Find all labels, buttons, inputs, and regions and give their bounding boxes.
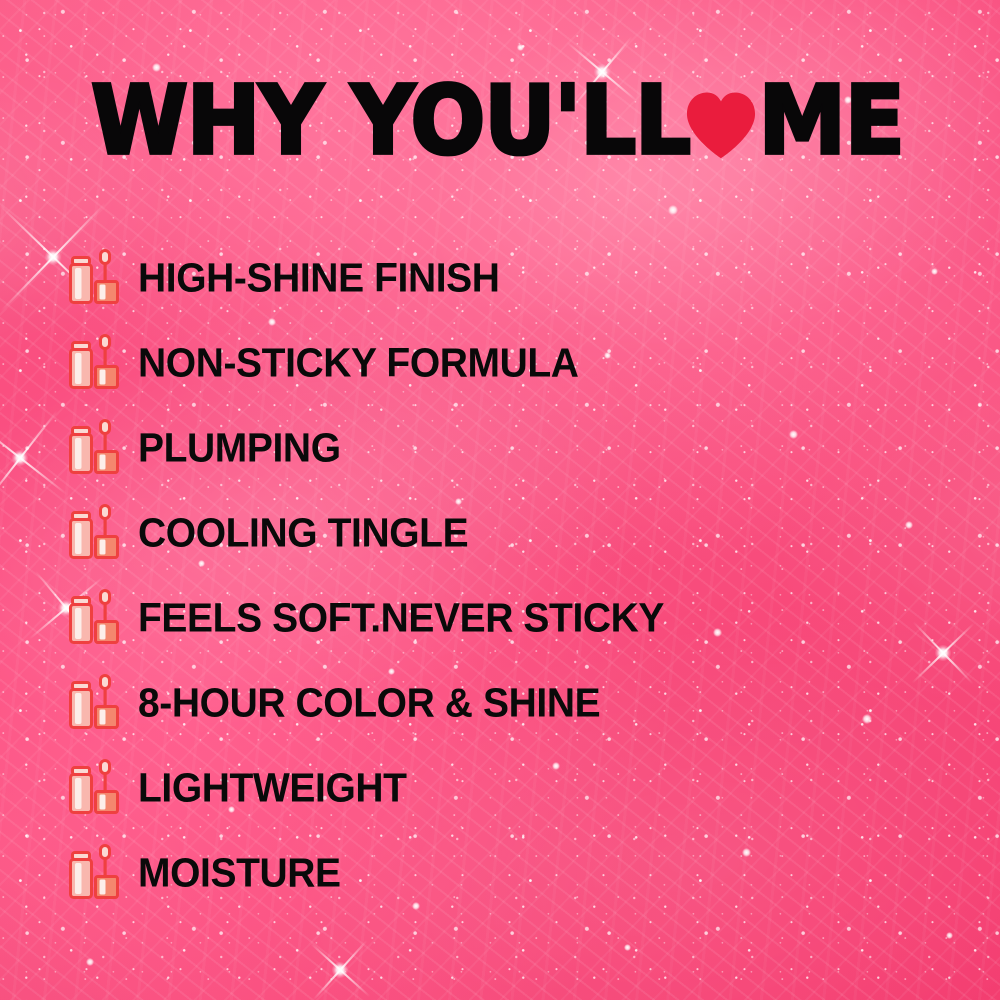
list-item: PLUMPING [66,406,664,491]
list-item: HIGH-SHINE FINISH [66,236,664,321]
list-item: COOLING TINGLE [66,491,664,576]
lip-gloss-tube-and-wand-icon [66,248,122,310]
list-item-label: HIGH-SHINE FINISH [138,258,500,299]
lip-gloss-tube-and-wand-icon [66,843,122,905]
lip-gloss-tube-and-wand-icon [66,673,122,735]
lip-gloss-tube-and-wand-icon [66,418,122,480]
lip-gloss-tube-and-wand-icon [66,588,122,650]
lip-gloss-tube-and-wand-icon [66,333,122,395]
list-item: 8-HOUR COLOR & SHINE [66,661,664,746]
list-item-label: COOLING TINGLE [138,513,468,554]
list-item-label: MOISTURE [138,853,341,894]
list-item-label: PLUMPING [138,428,341,469]
list-item: MOISTURE [66,831,664,916]
page-title-part2: ME [759,74,904,169]
list-item-label: NON-STICKY FORMULA [138,343,579,384]
list-item: FEELS SOFT.NEVER STICKY [66,576,664,661]
heart-icon [684,90,758,160]
list-item: NON-STICKY FORMULA [66,321,664,406]
lip-gloss-tube-and-wand-icon [66,758,122,820]
promo-graphic: WHY YOU'LL ME [0,0,1000,1000]
list-item: LIGHTWEIGHT [66,746,664,831]
page-title-part1: WHY YOU'LL [91,74,690,169]
list-item-label: 8-HOUR COLOR & SHINE [138,683,600,724]
page-title: WHY YOU'LL ME [0,78,1000,164]
lip-gloss-tube-and-wand-icon [66,503,122,565]
benefits-list: HIGH-SHINE FINISH NON-STICKY FORMULA [66,236,664,916]
list-item-label: LIGHTWEIGHT [138,768,407,809]
list-item-label: FEELS SOFT.NEVER STICKY [138,598,664,639]
